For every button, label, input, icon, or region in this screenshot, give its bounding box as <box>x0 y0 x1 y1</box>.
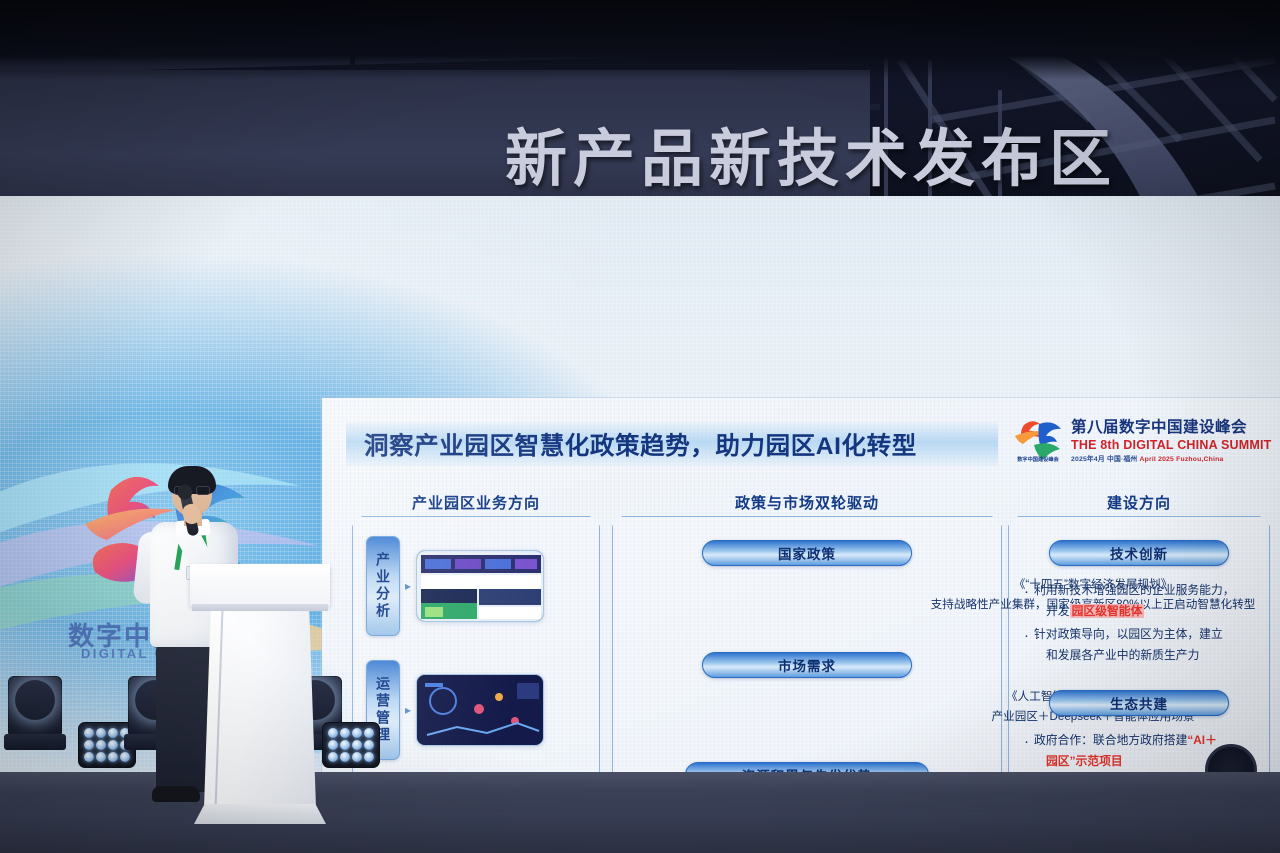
podium <box>190 564 330 828</box>
conference-stage-photo: 新产品新技术发布区 <box>0 0 1280 853</box>
led-par-light-2 <box>322 722 380 768</box>
ceiling-shadow <box>0 0 1280 80</box>
podium-base <box>194 804 326 824</box>
hall-signage-text: 新产品新技术发布区 <box>505 129 1117 191</box>
podium-top <box>190 564 330 606</box>
hall-signage: 新产品新技术发布区 <box>505 124 1205 196</box>
podium-lip <box>192 604 328 611</box>
moving-head-light-1 <box>8 676 62 738</box>
